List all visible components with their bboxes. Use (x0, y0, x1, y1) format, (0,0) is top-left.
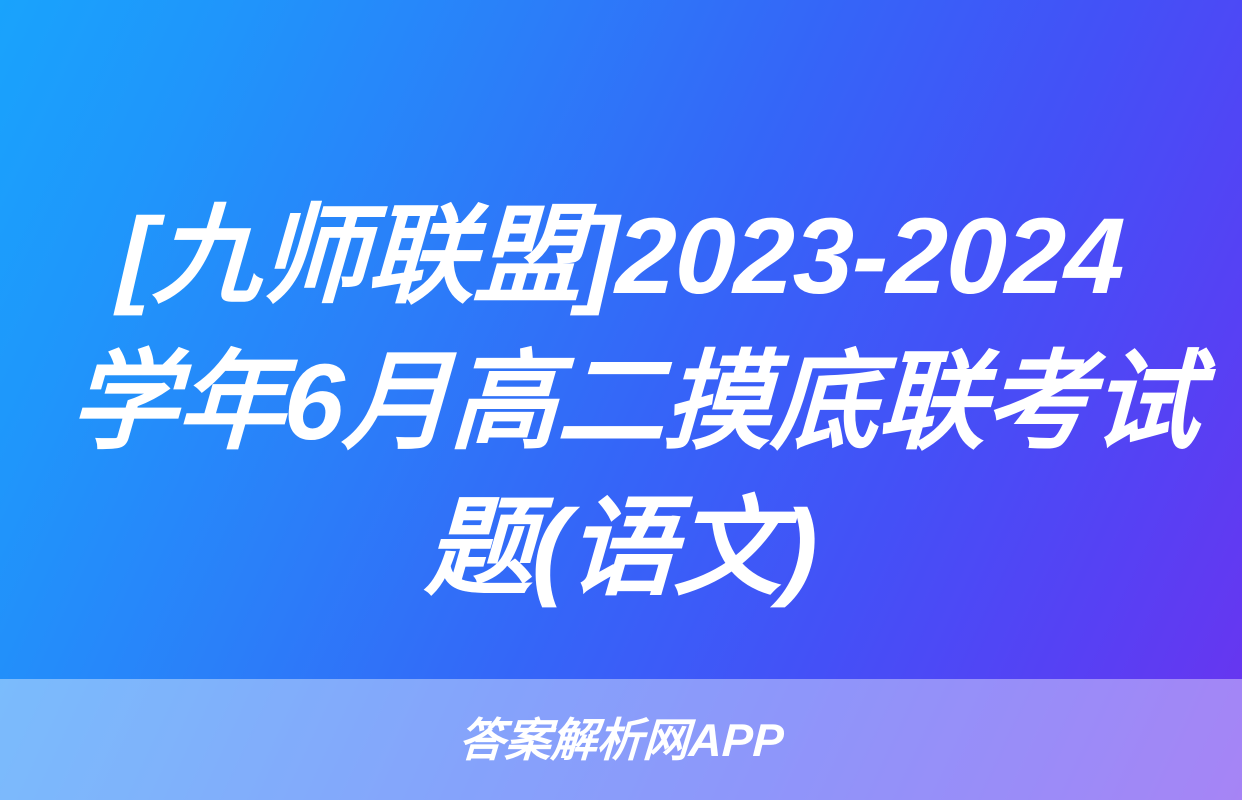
page-title: [九师联盟]2023-2024 学年6月高二摸底联考试 题(语文) (0, 183, 1242, 621)
title-line-1: [九师联盟]2023-2024 (67, 183, 1174, 329)
title-line-3: 题(语文) (67, 475, 1174, 621)
footer-band: 答案解析网APP (0, 679, 1242, 800)
app-brand-label: 答案解析网APP (457, 715, 784, 765)
title-line-2: 学年6月高二摸底联考试 (67, 329, 1174, 475)
promo-card: [九师联盟]2023-2024 学年6月高二摸底联考试 题(语文) 答案解析网A… (0, 0, 1242, 800)
